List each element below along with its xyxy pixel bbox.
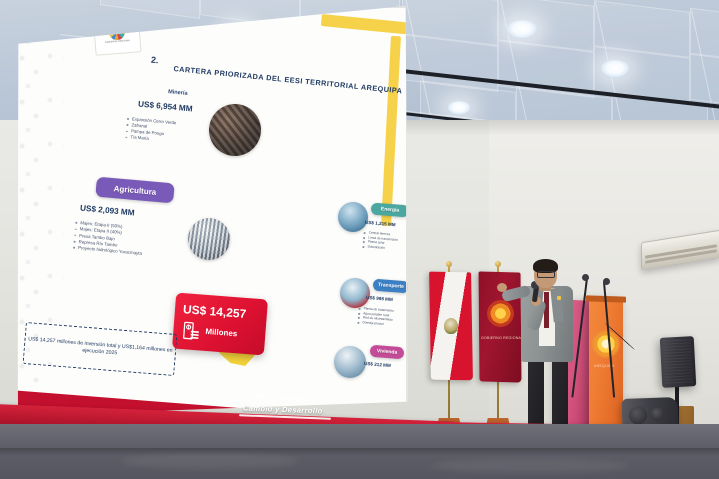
screenshot-root: GOBIERNO REGIONAL 2. CARTERA PRIORIZADA … <box>0 0 719 479</box>
microphone-head-icon <box>603 278 610 285</box>
sun-emblem-icon <box>487 300 514 327</box>
peru-coat-of-arms-icon <box>444 318 458 334</box>
ceiling-downlight <box>600 60 630 78</box>
flag-finial-icon <box>495 261 501 267</box>
flag-caption: GOBIERNO REGIONAL <box>481 336 523 340</box>
speaker-glasses-icon <box>537 271 555 278</box>
flag-finial-icon <box>446 261 452 267</box>
projection-screen: GOBIERNO REGIONAL 2. CARTERA PRIORIZADA … <box>16 6 408 416</box>
ceiling-downlight <box>506 20 538 39</box>
altavoz-pa <box>660 336 697 388</box>
speaker-lapel-pin-icon <box>557 296 561 300</box>
microphone-head-icon <box>582 274 589 281</box>
speaker-tie <box>544 292 549 328</box>
ceiling-downlight <box>447 101 471 115</box>
speaker-hand-raised <box>497 283 507 292</box>
screen-border <box>16 6 408 416</box>
